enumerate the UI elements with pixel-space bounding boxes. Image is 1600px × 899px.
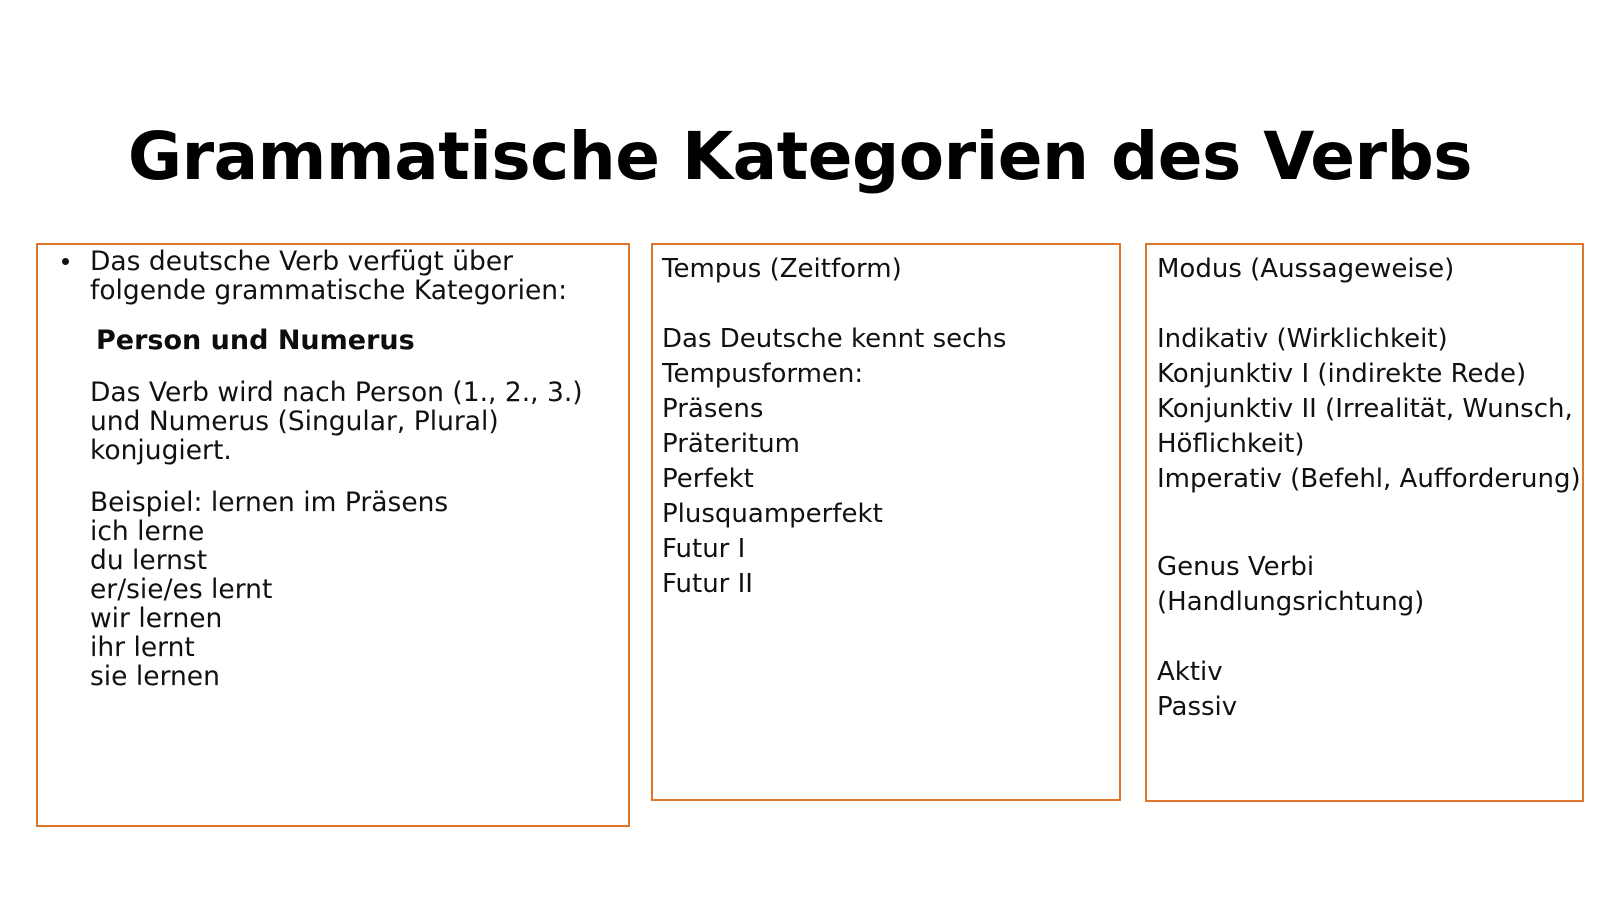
tempus-item: Plusquamperfekt [662, 497, 1114, 532]
content-box-tempus: Tempus (Zeitform) Das Deutsche kennt sec… [651, 243, 1121, 801]
box-one-paragraph: Das Verb wird nach Person (1., 2., 3.) u… [52, 378, 627, 465]
example-heading: Beispiel: lernen im Präsens [90, 488, 627, 517]
bullet-text: Das deutsche Verb verfügt über folgende … [90, 246, 567, 306]
tempus-item: Perfekt [662, 462, 1114, 497]
bullet-icon [62, 258, 69, 265]
box-one-subheading: Person und Numerus [52, 326, 627, 356]
spacer [1157, 620, 1587, 655]
box-one-example-block: Beispiel: lernen im Präsens ich lerne du… [52, 488, 627, 691]
modus-item: Imperativ (Befehl, Aufforderung) [1157, 462, 1587, 497]
genus-item: Passiv [1157, 690, 1587, 725]
box-two-intro: Das Deutsche kennt sechs Tempusformen: [662, 322, 1114, 392]
tempus-item: Futur II [662, 567, 1114, 602]
modus-item: Konjunktiv II (Irrealität, Wunsch, Höfli… [1157, 392, 1587, 462]
modus-item: Indikativ (Wirklichkeit) [1157, 322, 1587, 357]
spacer [1157, 497, 1587, 532]
content-box-modus: Modus (Aussageweise) Indikativ (Wirklich… [1145, 243, 1584, 802]
conjugation-line: ich lerne [90, 517, 627, 546]
box-two-content: Tempus (Zeitform) Das Deutsche kennt sec… [662, 252, 1114, 602]
conjugation-line: ihr lernt [90, 633, 627, 662]
conjugation-line: er/sie/es lernt [90, 575, 627, 604]
box-three-heading: Modus (Aussageweise) [1157, 252, 1587, 287]
genus-item: Aktiv [1157, 655, 1587, 690]
tempus-item: Futur I [662, 532, 1114, 567]
box-one-content: Das deutsche Verb verfügt über folgende … [52, 247, 627, 691]
list-item: Das deutsche Verb verfügt über folgende … [52, 247, 627, 305]
conjugation-line: wir lernen [90, 604, 627, 633]
conjugation-line: du lernst [90, 546, 627, 575]
genus-heading: Genus Verbi (Handlungsrichtung) [1157, 550, 1587, 620]
conjugation-line: sie lernen [90, 662, 627, 691]
slide-canvas: Grammatische Kategorien des Verbs Das de… [0, 0, 1600, 899]
spacer [1157, 287, 1587, 322]
spacer [662, 287, 1114, 322]
spacer [1157, 532, 1587, 550]
box-three-content: Modus (Aussageweise) Indikativ (Wirklich… [1157, 252, 1587, 725]
tempus-item: Präsens [662, 392, 1114, 427]
box-two-heading: Tempus (Zeitform) [662, 252, 1114, 287]
content-box-person-numerus: Das deutsche Verb verfügt über folgende … [36, 243, 630, 827]
tempus-item: Präteritum [662, 427, 1114, 462]
page-title: Grammatische Kategorien des Verbs [0, 122, 1600, 191]
modus-item: Konjunktiv I (indirekte Rede) [1157, 357, 1587, 392]
